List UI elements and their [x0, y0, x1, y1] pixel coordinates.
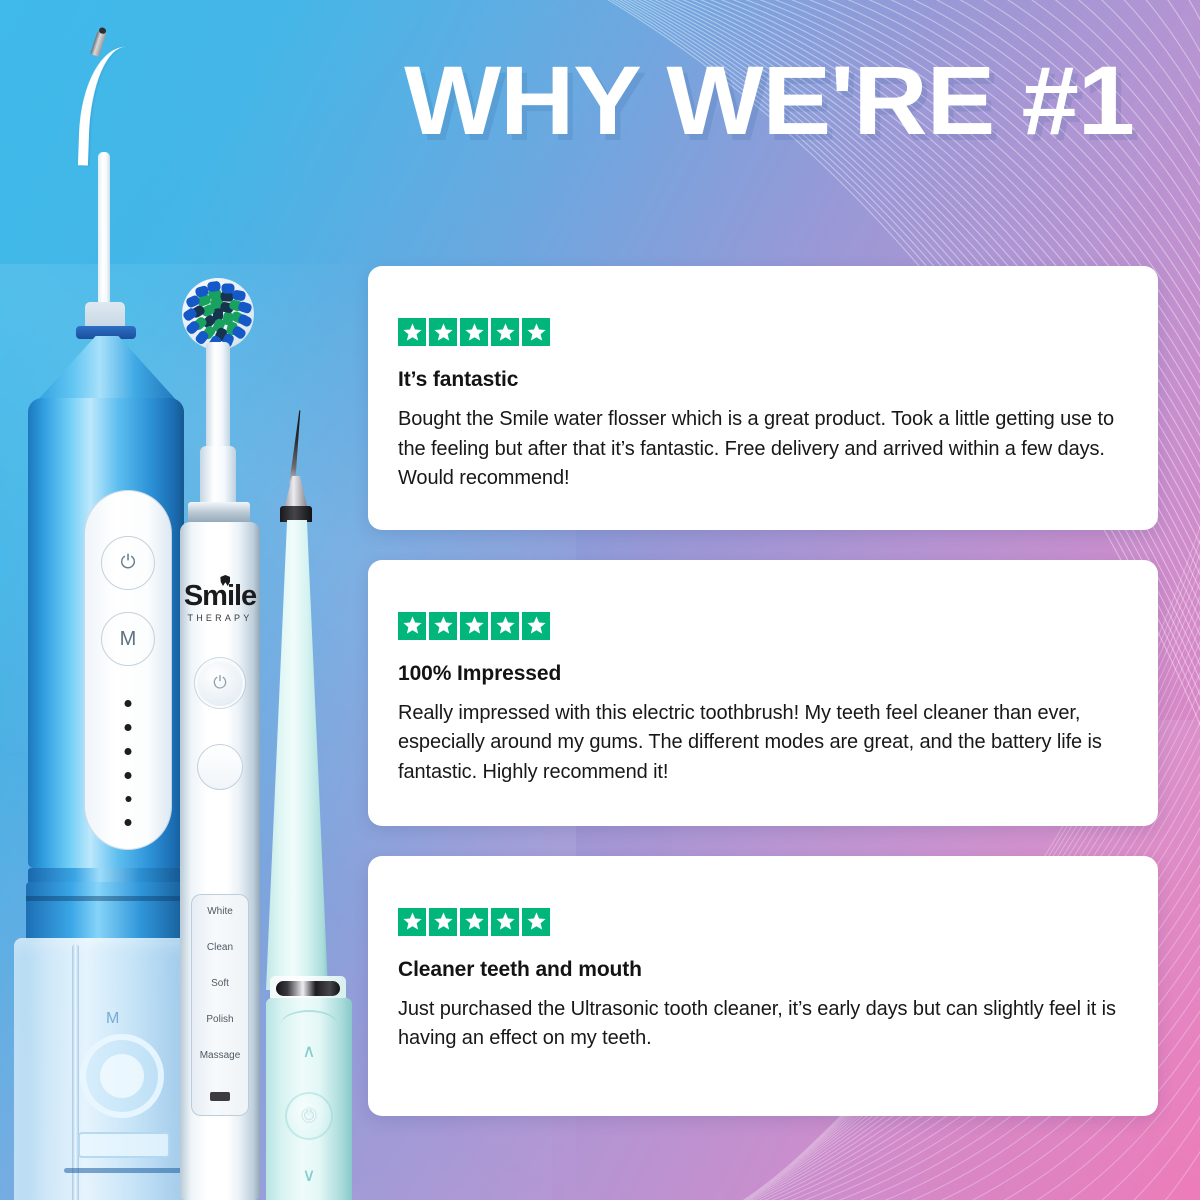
product-images: ⏻ M M	[0, 0, 372, 1200]
flosser-nozzle-curve	[78, 45, 126, 166]
brand-name: Smile	[184, 580, 256, 612]
flosser-mode-button[interactable]: M	[101, 612, 155, 666]
toothbrush-body: Smile THERAPY ⏻ White Clean Soft Polish …	[180, 522, 260, 1200]
review-card: It’s fantastic Bought the Smile water fl…	[368, 266, 1158, 530]
chevron-up-icon[interactable]: ∧	[302, 1042, 315, 1060]
star-icon	[429, 908, 457, 936]
toothbrush-neck	[206, 342, 230, 460]
star-icon	[398, 318, 426, 346]
star-icon	[460, 908, 488, 936]
toothbrush-brand-logo: Smile THERAPY	[180, 582, 260, 623]
review-card: 100% Impressed Really impressed with thi…	[368, 560, 1158, 826]
star-icon	[429, 318, 457, 346]
flosser-valve-marking: M	[106, 1010, 121, 1028]
flosser-nozzle-stem	[98, 152, 110, 308]
toothbrush-mode-list: White Clean Soft Polish Massage	[191, 894, 249, 1116]
scaler-power-button[interactable]: ⏻	[287, 1094, 331, 1138]
star-rating	[398, 612, 1124, 640]
toothbrush-bristles	[182, 278, 254, 350]
review-body: Just purchased the Ultrasonic tooth clea…	[398, 995, 1124, 1054]
review-body: Really impressed with this electric toot…	[398, 699, 1124, 788]
star-rating	[398, 318, 1124, 346]
star-icon	[429, 612, 457, 640]
star-rating	[398, 908, 1124, 936]
toothbrush-power-button[interactable]: ⏻	[197, 660, 243, 706]
promo-graphic: WHY WE'RE #1 ⏻ M M	[0, 0, 1200, 1200]
star-icon	[491, 612, 519, 640]
flosser-indicator-dots	[125, 700, 132, 843]
mode-label-white: White	[192, 907, 248, 917]
brand-subtitle: THERAPY	[180, 613, 260, 623]
mode-label-polish: Polish	[192, 1015, 248, 1025]
star-icon	[491, 318, 519, 346]
toothbrush-neck-lower	[200, 446, 236, 506]
product-ultrasonic-cleaner: ∧ ⏻ ∨	[250, 410, 370, 1200]
mode-label-soft: Soft	[192, 979, 248, 989]
star-icon	[491, 908, 519, 936]
toothbrush-metal-collar	[188, 502, 250, 524]
scaler-tip-collar	[280, 506, 312, 522]
mode-label-massage: Massage	[192, 1051, 248, 1061]
scaler-metal-tip	[289, 410, 303, 484]
scaler-wave-top	[281, 1010, 337, 1024]
flosser-power-button[interactable]: ⏻	[101, 536, 155, 590]
review-card: Cleaner teeth and mouth Just purchased t…	[368, 856, 1158, 1116]
star-icon	[460, 318, 488, 346]
product-electric-toothbrush: Smile THERAPY ⏻ White Clean Soft Polish …	[152, 270, 264, 1200]
star-icon	[522, 908, 550, 936]
star-icon	[460, 612, 488, 640]
battery-icon	[210, 1092, 230, 1101]
review-card-list: It’s fantastic Bought the Smile water fl…	[368, 266, 1158, 1146]
flosser-intake-tube	[72, 944, 79, 1200]
chevron-down-icon[interactable]: ∨	[302, 1166, 315, 1184]
review-title: It’s fantastic	[398, 368, 1124, 392]
toothbrush-secondary-button[interactable]	[197, 744, 243, 790]
mode-label-clean: Clean	[192, 943, 248, 953]
scaler-cone-body	[266, 520, 328, 990]
review-body: Bought the Smile water flosser which is …	[398, 405, 1124, 494]
page-title: WHY WE'RE #1	[345, 52, 1193, 149]
flosser-nozzle-tip	[90, 29, 107, 57]
star-icon	[398, 612, 426, 640]
review-title: Cleaner teeth and mouth	[398, 958, 1124, 982]
star-icon	[522, 318, 550, 346]
star-icon	[398, 908, 426, 936]
star-icon	[522, 612, 550, 640]
scaler-tip-base	[284, 476, 308, 510]
scaler-handle: ∧ ⏻ ∨	[266, 998, 352, 1200]
review-title: 100% Impressed	[398, 662, 1124, 686]
